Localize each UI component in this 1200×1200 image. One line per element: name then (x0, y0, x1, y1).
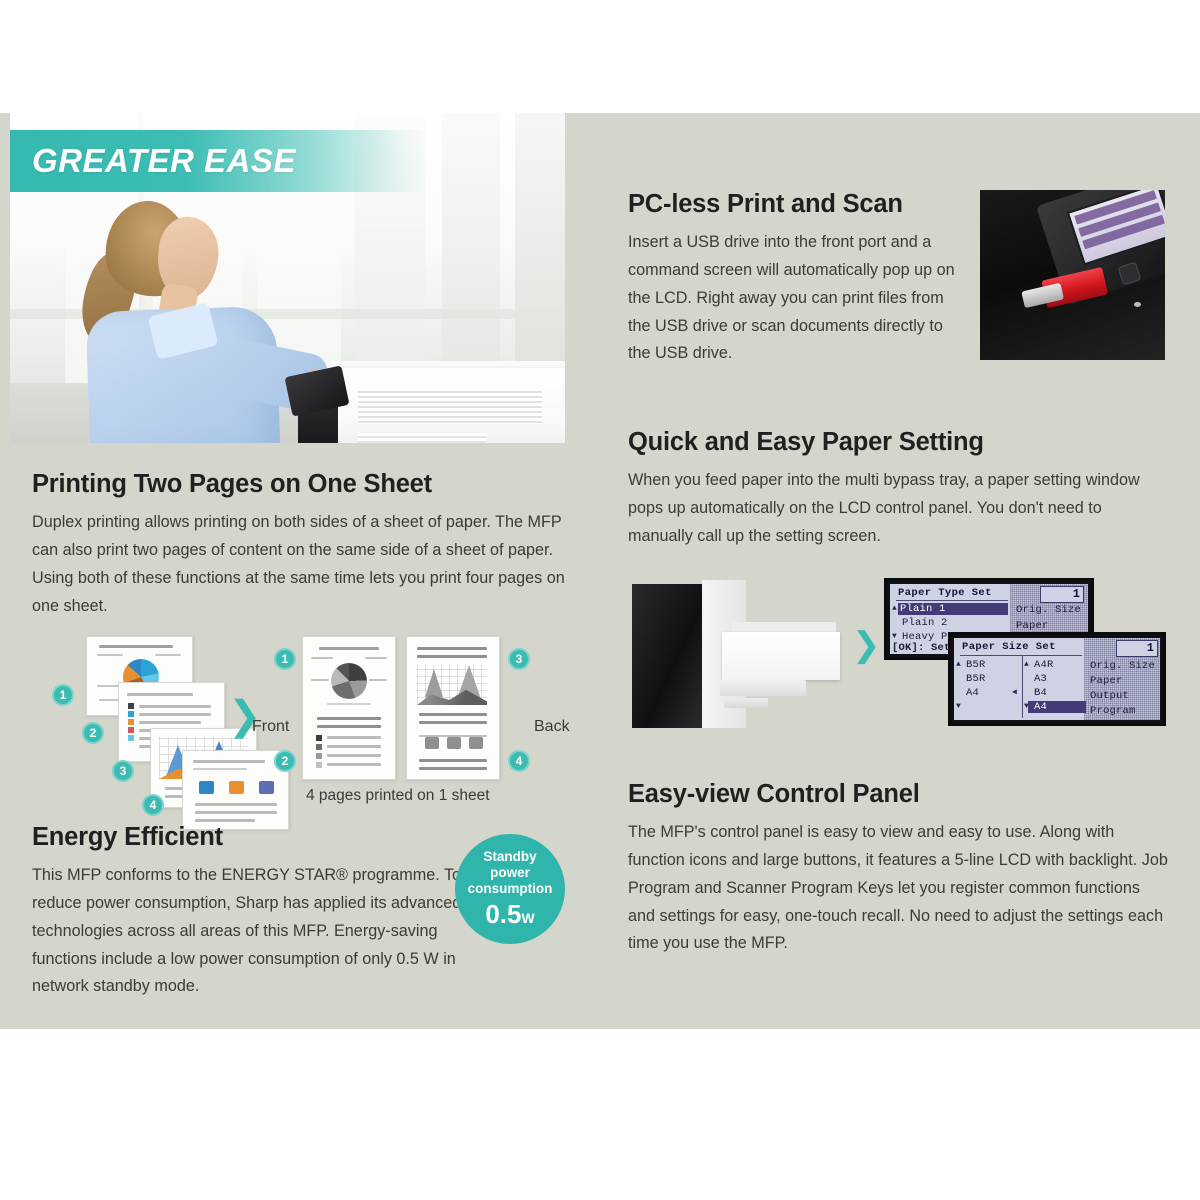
lcd-title: Paper Type Set (898, 587, 992, 599)
standby-power-badge: Standby power consumption 0.5W (455, 834, 565, 944)
scroll-down-icon[interactable]: ▼ (956, 703, 961, 711)
duplex-section: Printing Two Pages on One Sheet Duplex p… (32, 470, 580, 620)
badge-value-unit: W (521, 910, 534, 926)
lcd-item-selected[interactable]: A4 (1028, 701, 1086, 713)
energy-section-body: This MFP conforms to the ENERGY STAR® pr… (32, 862, 500, 1001)
source-page-4 (182, 750, 289, 830)
lcd-item-selected[interactable]: Plain 1 (898, 603, 1008, 615)
scroll-up-icon[interactable]: ▲ (1024, 661, 1029, 669)
badge-value: 0.5W (485, 899, 534, 930)
brochure-page: GREATER EASE Printing Two Pages on One S… (0, 0, 1200, 1200)
lcd-item[interactable]: A3 (1034, 673, 1047, 685)
lcd-page-number: 1 (1073, 587, 1080, 601)
paper-sheet (722, 632, 840, 680)
section-banner: GREATER EASE (10, 130, 430, 192)
lcd-title: Paper Size Set (962, 641, 1056, 653)
lcd-side-item[interactable]: Output (1090, 690, 1129, 702)
usb-drive-photo (980, 190, 1165, 360)
lcd-paper-size-set: 1 Paper Size Set B5R B5R A4 ▲ ▼ ◀ A4R A3… (948, 632, 1166, 726)
lcd-footer: [OK]: Set (892, 642, 951, 654)
tray-guide (724, 698, 768, 708)
result-sheet-back (406, 636, 500, 780)
scroll-up-icon[interactable]: ▲ (892, 605, 897, 613)
port-indicator (1134, 302, 1141, 307)
lcd-item[interactable]: A4R (1034, 659, 1054, 671)
duplex-caption: 4 pages printed on 1 sheet (306, 787, 490, 805)
lcd-page-box: 1 (1040, 586, 1084, 603)
lcd-side-item[interactable]: Paper (1090, 675, 1123, 687)
lcd-item[interactable]: Plain 2 (902, 617, 948, 629)
scroll-left-icon[interactable]: ◀ (1012, 689, 1017, 697)
usb-section-body: Insert a USB drive into the front port a… (628, 229, 960, 368)
lcd-side-item[interactable]: Program (1090, 705, 1136, 717)
control-panel-body: The MFP's control panel is easy to view … (628, 819, 1168, 958)
result-page-number-2: 2 (274, 750, 296, 772)
scroll-down-icon[interactable]: ▼ (1024, 703, 1029, 711)
source-page-number-1: 1 (52, 684, 74, 706)
lcd-side-item[interactable]: Orig. Size (1090, 660, 1155, 672)
lcd-item[interactable]: A4 (966, 687, 979, 699)
printer-vent-grille (358, 433, 486, 443)
result-sheet-front (302, 636, 396, 780)
badge-line-1: Standby (483, 849, 536, 865)
badge-value-number: 0.5 (485, 899, 521, 929)
hero-photo-office-woman-using-mfp: GREATER EASE (10, 113, 565, 443)
lcd-item[interactable]: B5R (966, 673, 986, 685)
result-page-number-3: 3 (508, 648, 530, 670)
back-label: Back (534, 718, 570, 736)
source-page-number-2: 2 (82, 722, 104, 744)
lcd-side-item[interactable]: Paper (1016, 620, 1049, 632)
lcd-page-box: 1 (1116, 640, 1158, 657)
result-page-number-4: 4 (508, 750, 530, 772)
front-label: Front (252, 718, 289, 736)
duplex-section-title: Printing Two Pages on One Sheet (32, 470, 580, 499)
banner-title: GREATER EASE (10, 142, 296, 180)
bypass-tray-photo (632, 570, 847, 728)
result-page-number-1: 1 (274, 648, 296, 670)
badge-line-3: consumption (468, 881, 553, 897)
arrow-chevron-icon: ❯ (852, 628, 881, 662)
paper-setting-title: Quick and Easy Paper Setting (628, 428, 1168, 457)
paper-setting-section: Quick and Easy Paper Setting When you fe… (628, 428, 1168, 551)
lcd-item[interactable]: B4 (1034, 687, 1047, 699)
printer-vent-grille (358, 388, 542, 424)
mfp-body (632, 584, 710, 728)
scroll-down-icon[interactable]: ▼ (892, 633, 897, 641)
lcd-item[interactable]: B5R (966, 659, 986, 671)
tray-extension-arm (720, 680, 806, 696)
scroll-up-icon[interactable]: ▲ (956, 661, 961, 669)
lcd-page-number: 1 (1147, 641, 1154, 655)
source-page-number-4: 4 (142, 794, 164, 816)
badge-line-2: power (490, 865, 530, 881)
control-panel-title: Easy-view Control Panel (628, 780, 1168, 809)
paper-setting-body: When you feed paper into the multi bypas… (628, 467, 1168, 551)
duplex-illustration: 1 2 3 4 ❯ Front (30, 632, 575, 812)
lcd-screen-area: 1 Paper Size Set B5R B5R A4 ▲ ▼ ◀ A4R A3… (954, 638, 1160, 720)
pie-chart (331, 663, 367, 699)
duplex-section-body: Duplex printing allows printing on both … (32, 509, 580, 620)
source-page-number-3: 3 (112, 760, 134, 782)
control-panel-section: Easy-view Control Panel The MFP's contro… (628, 780, 1168, 958)
lcd-side-item[interactable]: Orig. Size (1016, 604, 1081, 616)
